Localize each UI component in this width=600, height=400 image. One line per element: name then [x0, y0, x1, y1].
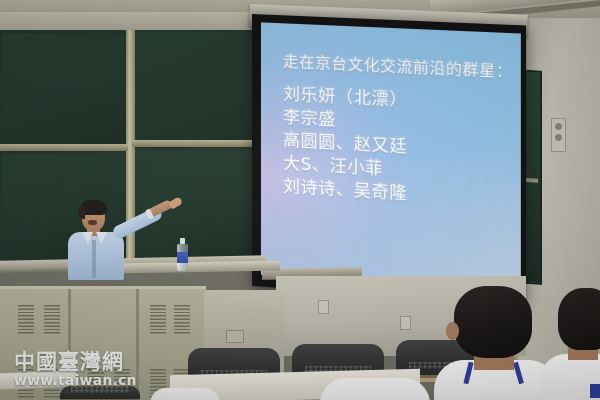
attendee-head: [454, 286, 532, 358]
water-bottle-label: [177, 252, 188, 263]
attendee-lanyard: [590, 384, 600, 398]
slide-title: 走在京台文化交流前沿的群星：: [283, 53, 512, 81]
speaker-collar-right: [96, 232, 107, 244]
chalkboard-panel: [134, 32, 258, 144]
projection-screen-surface: 走在京台文化交流前沿的群星： 刘乐妍（北漂） 李宗盛 高圆圆、赵又廷 大S、汪小…: [261, 22, 521, 292]
watermark-url: www.taiwan.cn: [14, 374, 137, 388]
projection-screen: 走在京台文化交流前沿的群星： 刘乐妍（北漂） 李宗盛 高圆圆、赵又廷 大S、汪小…: [252, 14, 526, 305]
lecture-hall-photo: 走在京台文化交流前沿的群星： 刘乐妍（北漂） 李宗盛 高圆圆、赵又廷 大S、汪小…: [0, 0, 600, 400]
wall-outlet[interactable]: [400, 316, 411, 330]
attendee-ear: [446, 322, 459, 340]
speaker-shirt-placket: [92, 240, 96, 278]
switch-knob-lower: [555, 134, 562, 141]
chalkboard-panel: [2, 34, 126, 146]
switch-knob-upper: [555, 123, 562, 130]
locker-vent: [150, 305, 166, 335]
attendee-head: [558, 288, 600, 350]
chalkboard-divider-horizontal: [132, 140, 262, 147]
speaker-collar-left: [82, 232, 93, 244]
side-cabinet-panel: [226, 330, 244, 343]
locker-vent: [44, 305, 60, 335]
locker-vent: [174, 305, 190, 335]
chalkboard-divider-horizontal: [0, 144, 128, 151]
water-bottle-cap: [180, 238, 185, 244]
speaker-mouth: [88, 220, 97, 225]
slide-content: 走在京台文化交流前沿的群星： 刘乐妍（北漂） 李宗盛 高圆圆、赵又廷 大S、汪小…: [261, 22, 521, 292]
water-bottle: [177, 238, 188, 271]
watermark: 中國臺灣網 www.taiwan.cn: [14, 352, 137, 388]
speaker-hair-side: [78, 206, 85, 219]
wall-outlet[interactable]: [318, 300, 329, 314]
slide-name-list: 刘乐妍（北漂） 李宗盛 高圆圆、赵又廷 大S、汪小菲 刘诗诗、吴奇隆: [283, 84, 512, 213]
light-switch-plate[interactable]: [551, 118, 566, 152]
attendee-right-edge: [540, 288, 600, 400]
attendee-foreground-center: [320, 378, 430, 400]
locker-vent: [18, 305, 34, 335]
speaker-person: [56, 198, 176, 278]
attendee-foreground-left: [150, 388, 220, 400]
watermark-brand: 中國臺灣網: [14, 352, 137, 373]
